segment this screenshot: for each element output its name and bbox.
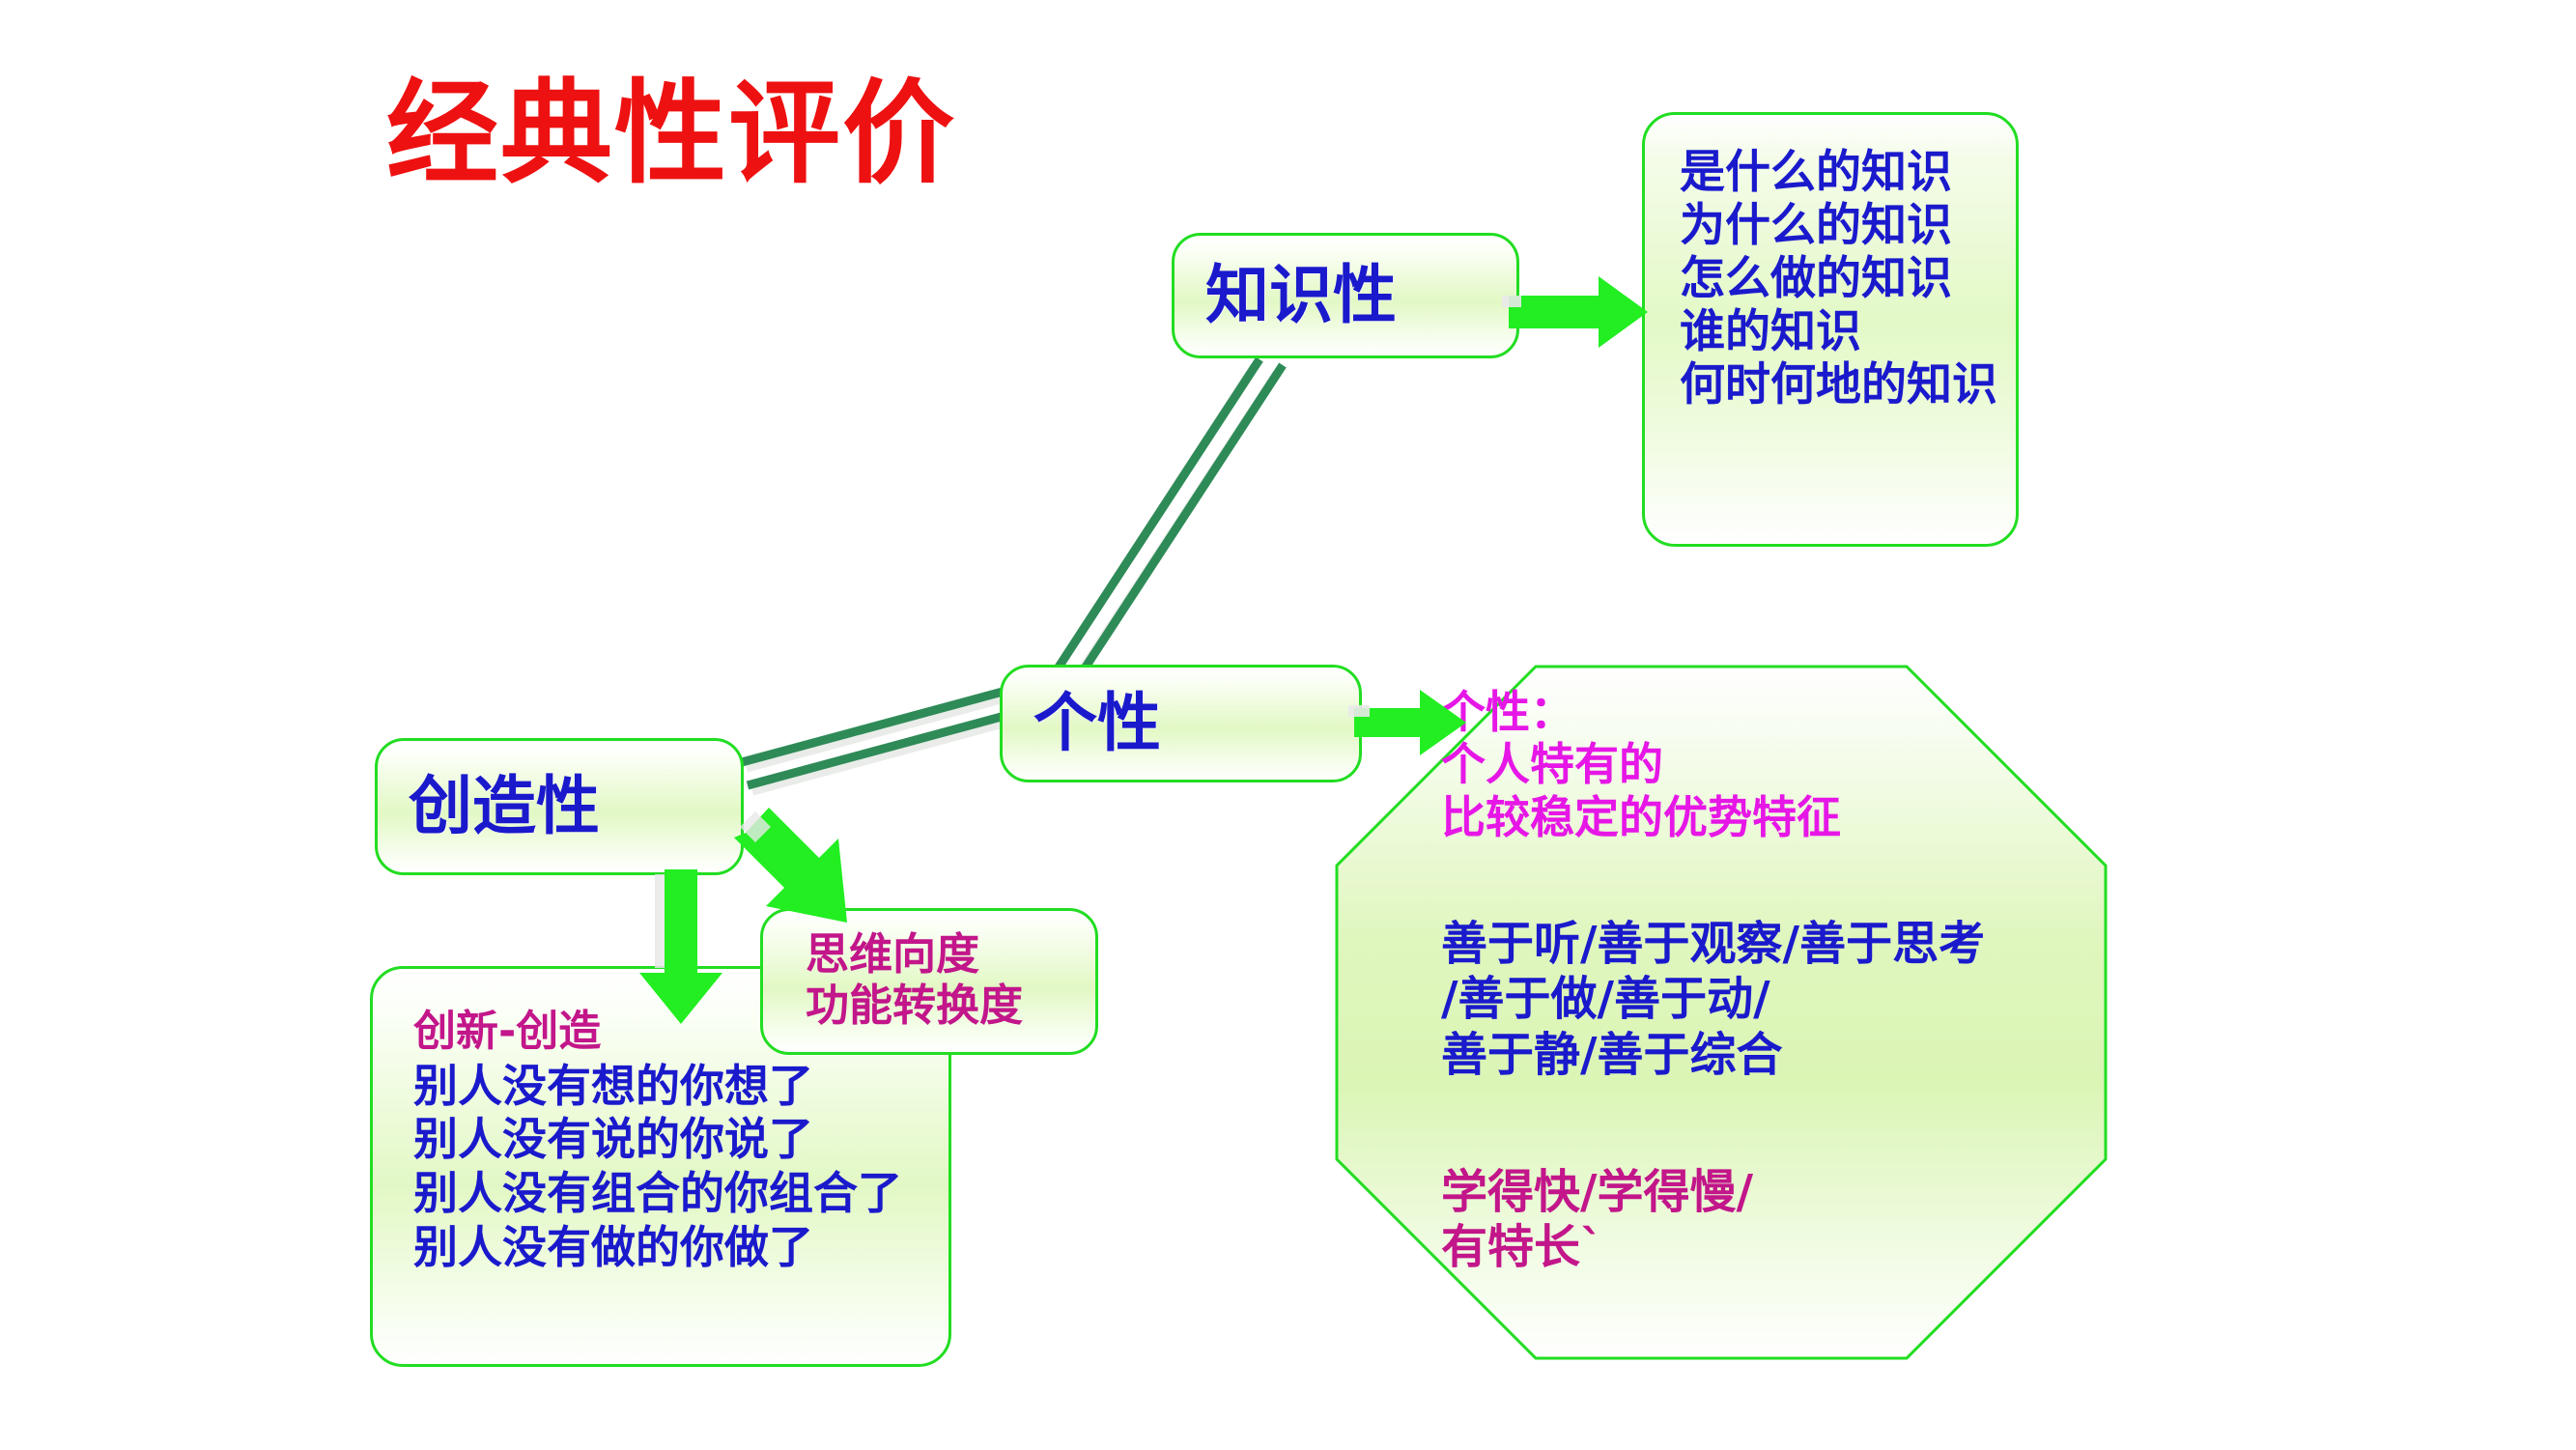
arrow-creativity-diagonal	[734, 808, 847, 923]
arrow-personality-right	[1348, 690, 1466, 755]
arrow-layer	[0, 0, 2576, 1450]
arrow-creativity-down	[639, 869, 722, 1024]
arrow-knowledge-right	[1502, 276, 1648, 348]
slide-canvas: 经典性评价 知识性 是什么的知识 为什么的知识 怎么做的知识 谁的知识	[0, 0, 2576, 1450]
